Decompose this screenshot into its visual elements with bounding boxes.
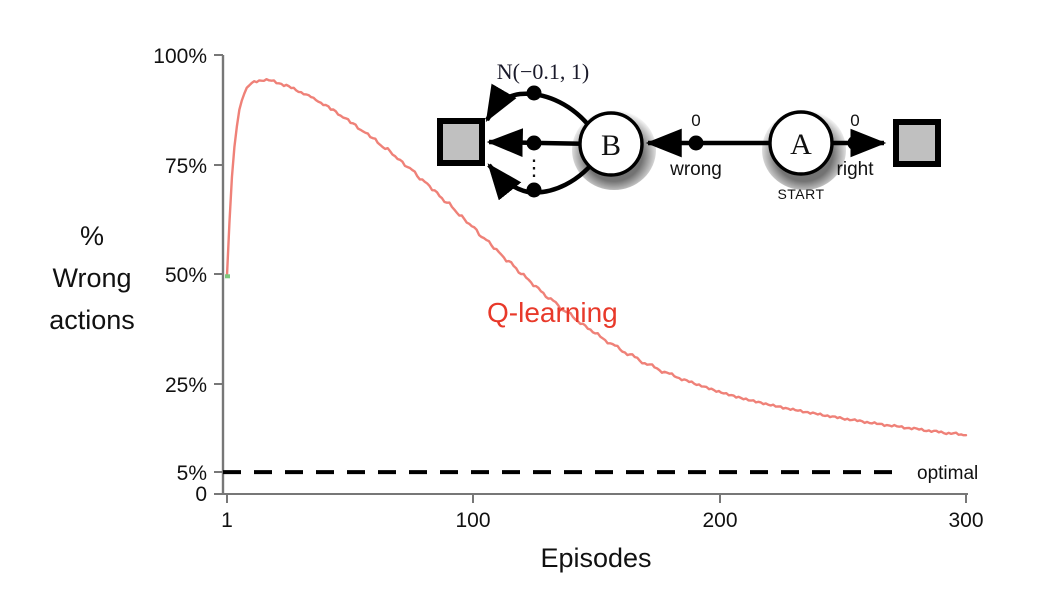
node-a-start-label: START [777,186,824,202]
reward-dot-right [848,136,863,151]
terminal-state-left [440,121,482,163]
reward-dot-wrong [689,136,704,151]
y-tick-label-75: 75% [165,155,207,178]
mdp-inset-diagram: N(−0.1, 1) ⋮ B 0 wrong A START 0 right [440,59,938,202]
figure-canvas: 100% 75% 50% 25% 5% 0 1 100 200 300 Epis… [0,0,1059,592]
y-tick-label-100: 100% [153,45,207,68]
edge-wrong-action: wrong [669,159,722,180]
edge-right-action: right [837,159,875,180]
y-axis-title-line-3: actions [49,305,135,335]
vertical-dots: ⋮ [523,155,545,180]
node-b-label: B [601,129,621,162]
series-start-marker [225,274,230,278]
y-tick-labels: 100% 75% 50% 25% 5% 0 [153,45,207,506]
x-tick-labels: 1 100 200 300 [221,509,983,532]
y-axis-title-line-1: % [80,221,104,251]
y-axis-title: % Wrong actions [49,221,135,335]
y-tick-label-25: 25% [165,374,207,397]
x-tick-label-200: 200 [702,509,737,532]
distribution-symbol: N [497,59,513,84]
y-tick-label-0: 0 [195,483,207,506]
x-axis-title: Episodes [540,543,651,573]
y-tick-label-5: 5% [177,462,207,485]
x-tick-label-300: 300 [948,509,983,532]
x-tick-label-1: 1 [221,509,233,532]
reward-dot-lower [527,183,542,198]
node-a-label: A [790,128,812,161]
distribution-label: N(−0.1, 1) [497,59,589,84]
edge-right-reward: 0 [850,111,859,130]
edge-wrong-reward: 0 [691,111,700,130]
reward-dot-upper [527,86,542,101]
series-label-q-learning: Q-learning [487,297,618,328]
reward-dot-middle [527,136,542,151]
x-tick-label-100: 100 [455,509,490,532]
y-tick-label-50: 50% [165,264,207,287]
y-axis-title-line-2: Wrong [52,263,131,293]
terminal-state-right [896,122,938,164]
optimal-label: optimal [917,463,978,484]
distribution-args: (−0.1, 1) [513,59,590,84]
